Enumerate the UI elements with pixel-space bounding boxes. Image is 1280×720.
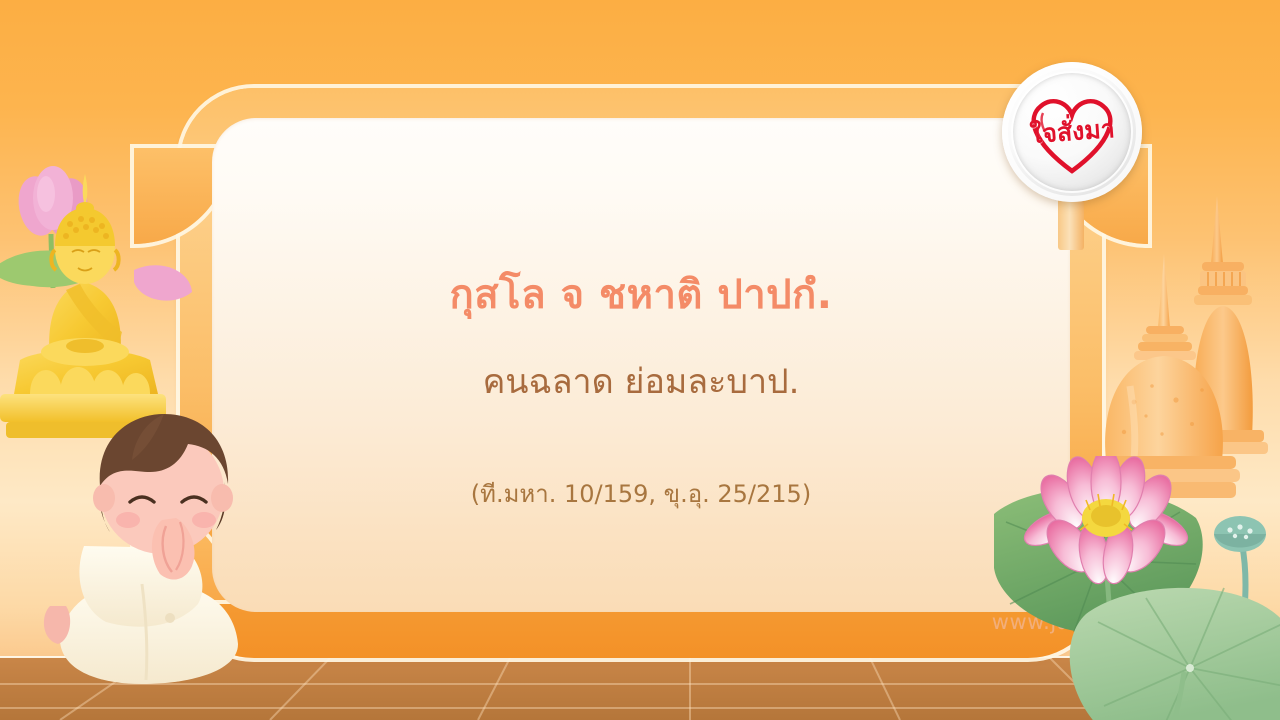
floor-tile-lines: [0, 658, 1280, 720]
website-url[interactable]: www.jaisangma.com: [992, 610, 1218, 634]
quote-card: กุสโล จ ชหาติ ปาปกํ. คนฉลาด ย่อมละบาป. (…: [0, 0, 1280, 720]
pali-verse: กุสโล จ ชหาติ ปาปกํ.: [450, 270, 833, 320]
scripture-reference: (ที.มหา. 10/159, ขุ.อุ. 25/215): [471, 474, 811, 513]
quote-content: กุสโล จ ชหาติ ปาปกํ. คนฉลาด ย่อมละบาป. (…: [215, 120, 1067, 626]
floor-tiles: [0, 658, 1280, 720]
thai-translation: คนฉลาด ย่อมละบาป.: [483, 360, 800, 404]
logo-badge[interactable]: ใจสั่งมา: [1002, 62, 1142, 202]
logo-text: ใจสั่งมา: [1028, 109, 1115, 155]
badge-inner: ใจสั่งมา: [1013, 73, 1131, 191]
